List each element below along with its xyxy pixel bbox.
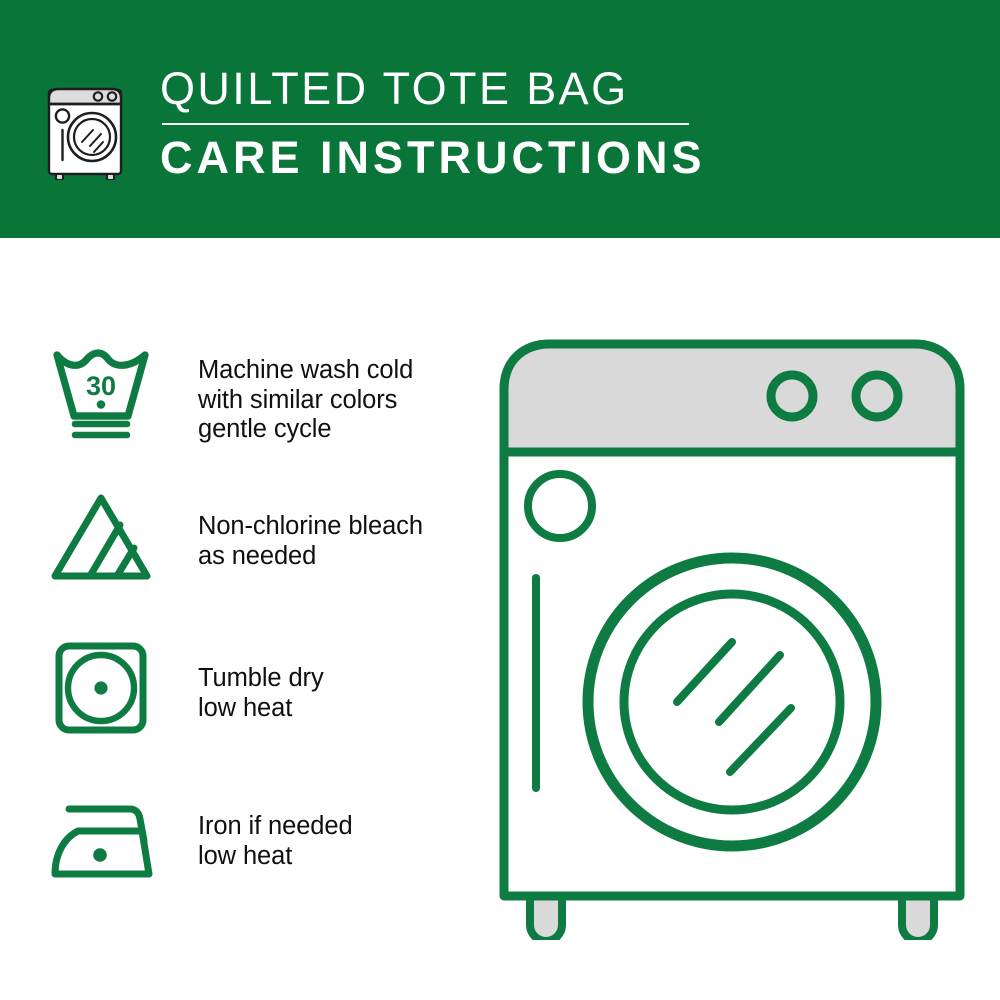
header-band: QUILTED TOTE BAG CARE INSTRUCTIONS: [0, 0, 1000, 238]
non-chlorine-bleach-triangle-icon: [50, 488, 158, 588]
care-item-tumble-dry: Tumble dry low heat: [48, 638, 324, 742]
front-load-washing-machine-illustration: [492, 330, 972, 940]
washer-control-panel: [504, 344, 960, 452]
care-symbol-wrapper: [48, 790, 160, 894]
care-instruction-list: 30 Machine wash cold with similar colors…: [0, 238, 480, 1000]
care-item-label: Tumble dry low heat: [198, 638, 324, 723]
care-symbol-wrapper: [48, 486, 160, 590]
product-title: QUILTED TOTE BAG: [160, 64, 706, 114]
title-divider: [162, 123, 689, 125]
header-title-group: QUILTED TOTE BAG CARE INSTRUCTIONS: [160, 62, 706, 184]
tumble-dry-low-heat-icon: [50, 640, 158, 740]
care-symbol-wrapper: 30: [48, 342, 160, 446]
iron-low-heat-icon: [50, 792, 158, 892]
care-item-label: Non-chlorine bleach as needed: [198, 486, 423, 571]
washer-foot-right: [902, 895, 934, 940]
care-symbol-wrapper: [48, 638, 160, 742]
care-item-bleach: Non-chlorine bleach as needed: [48, 486, 423, 590]
page-title: CARE INSTRUCTIONS: [160, 132, 706, 184]
washer-foot-left: [530, 895, 562, 940]
wash-tub-30-gentle-icon: 30: [50, 344, 158, 444]
care-item-iron: Iron if needed low heat: [48, 790, 353, 894]
header-content: QUILTED TOTE BAG CARE INSTRUCTIONS: [42, 62, 706, 184]
care-item-label: Iron if needed low heat: [198, 790, 353, 871]
care-item-machine-wash: 30 Machine wash cold with similar colors…: [48, 342, 413, 446]
washing-machine-icon: [42, 68, 138, 180]
care-instructions-infographic: QUILTED TOTE BAG CARE INSTRUCTIONS: [0, 0, 1000, 1000]
wash-temperature-label: 30: [86, 371, 116, 401]
care-item-label: Machine wash cold with similar colors ge…: [198, 342, 413, 445]
